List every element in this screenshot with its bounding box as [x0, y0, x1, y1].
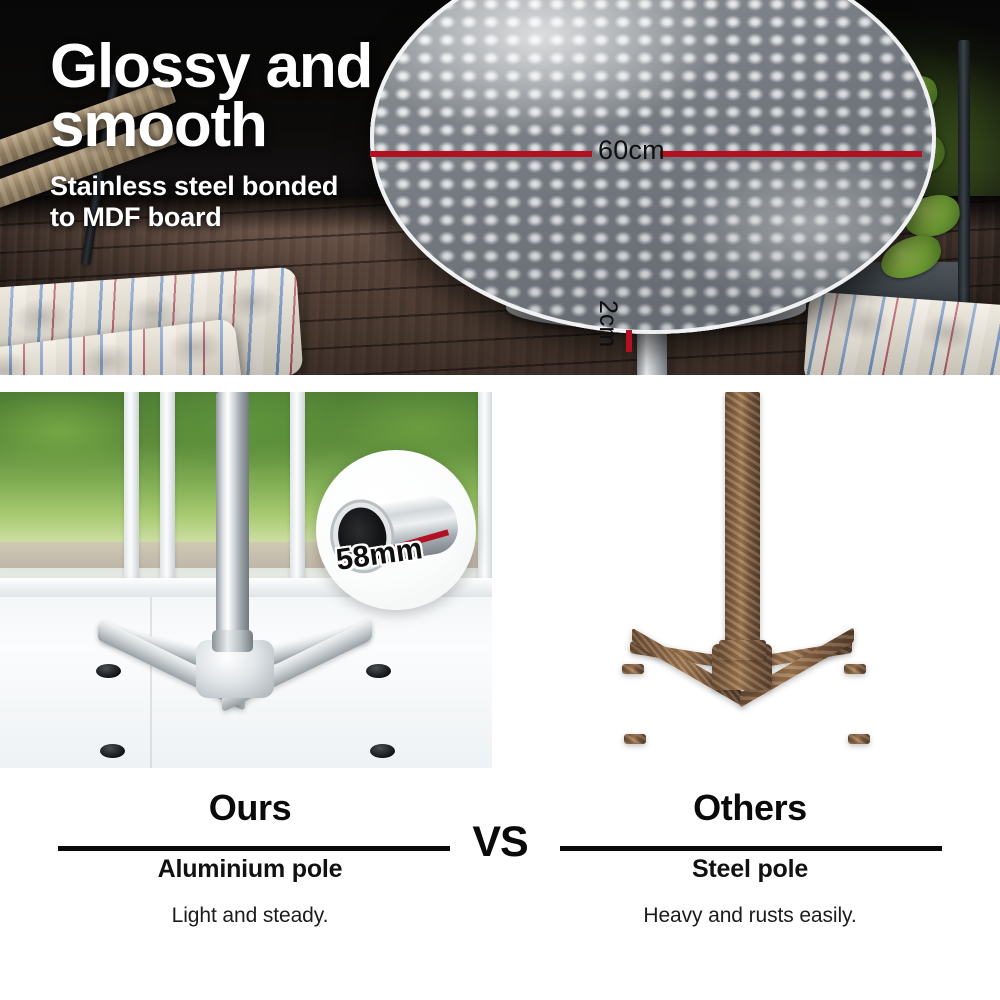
hero-banner: 60cm 2cm Glossy and smooth Stainless ste… [0, 0, 1000, 375]
diameter-label: 60cm [598, 135, 665, 166]
base-foot [370, 744, 395, 758]
column-note: Heavy and rusts easily. [550, 904, 950, 928]
aluminium-pole [216, 392, 249, 644]
product-feature-infographic: 60cm 2cm Glossy and smooth Stainless ste… [0, 0, 1000, 1000]
comparison-photo-panels: 58mm [0, 392, 1000, 768]
hero-headline-line1: Glossy and [50, 38, 470, 97]
dark-post [958, 40, 970, 340]
column-subtitle: Steel pole [550, 855, 950, 884]
pole-diameter-callout: 58mm [316, 450, 476, 610]
base-foot [366, 664, 391, 678]
steel-base-foot [844, 664, 866, 674]
base-foot [96, 664, 121, 678]
thickness-label: 2cm [593, 300, 622, 347]
column-title: Others [550, 790, 950, 826]
comparison-section: VS Ours Aluminium pole Light and steady.… [0, 790, 1000, 1000]
window-mullion [290, 392, 305, 592]
steel-base-foot [848, 734, 870, 744]
comparison-column-others: Others Steel pole Heavy and rusts easily… [550, 790, 950, 928]
thickness-dimension-tick [626, 330, 632, 352]
window-mullion [160, 392, 175, 592]
column-subtitle: Aluminium pole [50, 855, 450, 884]
steel-base-photo [512, 392, 1000, 768]
window-mullion [478, 392, 492, 592]
hero-headline-line2: smooth [50, 97, 470, 156]
aluminium-base-photo: 58mm [0, 392, 492, 768]
steel-pole [725, 392, 760, 652]
window-mullion [124, 392, 139, 592]
column-note: Light and steady. [50, 904, 450, 928]
steel-base-foot [624, 734, 646, 744]
diameter-dimension-line-right [660, 151, 922, 157]
base-foot [100, 744, 125, 758]
hero-copy: Glossy and smooth Stainless steel bonded… [50, 38, 470, 234]
pole-collar [212, 630, 253, 652]
steel-base-foot [622, 664, 644, 674]
column-title: Ours [50, 790, 450, 826]
hero-subhead-line2: to MDF board [50, 202, 470, 234]
hero-subhead-line1: Stainless steel bonded [50, 171, 470, 203]
steel-pole-collar [719, 640, 766, 660]
comparison-column-ours: Ours Aluminium pole Light and steady. [50, 790, 450, 928]
